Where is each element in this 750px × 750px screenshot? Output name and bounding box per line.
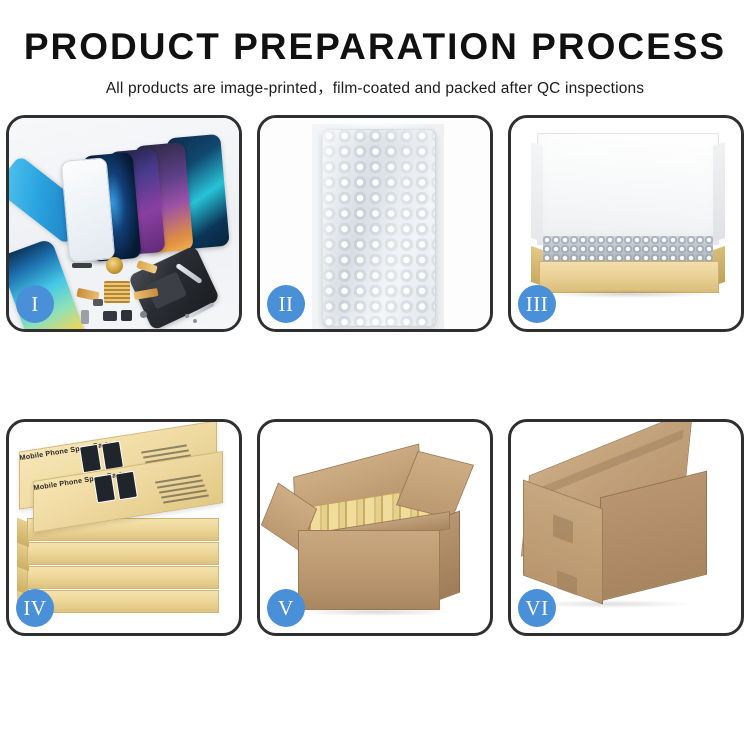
small-part-icon [81,310,89,324]
part-connector-grid-icon [104,281,130,303]
camera-module-icon [121,310,132,321]
product-photo-swatch [93,474,116,504]
product-photo-swatch [115,471,138,501]
small-part-icon [93,299,103,306]
carton-front-panel [298,530,440,610]
speaker-module-icon [103,311,117,321]
step-panel-6: VI [508,419,744,636]
bubble-wrap-highlight [322,129,434,325]
steps-grid: I II III [6,115,744,636]
box-stack-slab [27,542,219,565]
box-stack-slab [27,590,219,613]
box-front-panel-icon [539,261,719,293]
step-panel-2: II [257,115,493,332]
page-subtitle: All products are image-printed，film-coat… [0,76,750,98]
box-lid-icon [537,133,719,245]
part-bar-icon [72,263,92,268]
drop-shadow [300,608,450,616]
box-stack-slab [27,566,219,589]
step-panel-5: V [257,419,493,636]
product-preparation-process-infographic: PRODUCT PREPARATION PROCESS All products… [0,0,750,750]
step-panel-3: III [508,115,744,332]
product-photo-swatch [79,444,102,474]
header: PRODUCT PREPARATION PROCESS All products… [0,0,750,98]
step-panel-4: Mobile Phone Spare Parts Mobile Phone Sp… [6,419,242,636]
bubble-wrap-fill-icon [543,236,713,264]
page-title: PRODUCT PREPARATION PROCESS [0,26,750,67]
drop-shadow [545,290,711,298]
step-panel-1: I [6,115,242,332]
screen-protector-icon [61,158,116,264]
